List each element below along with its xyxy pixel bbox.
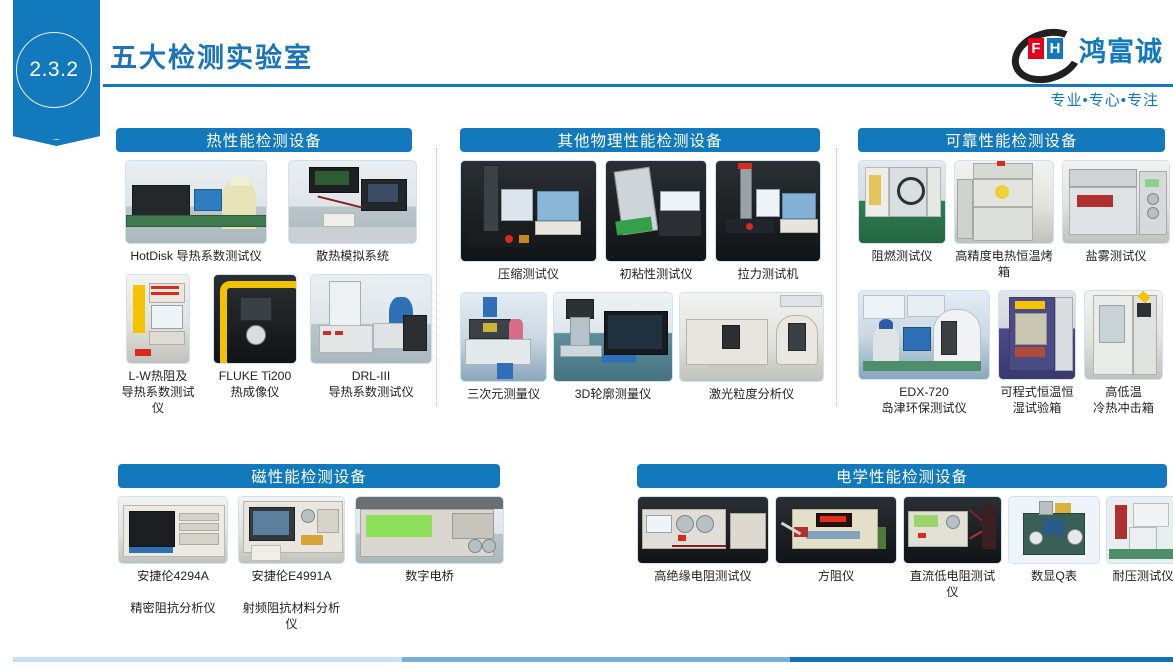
3d-profile-measuring-instrument-photo (553, 292, 673, 382)
equipment-item[interactable]: 安捷伦E4991A 射频阻抗材料分析仪 (238, 496, 345, 632)
heat-dissipation-simulation-system-photo (288, 160, 417, 244)
equipment-label: 三次元测量仪 (461, 386, 546, 402)
equipment-item[interactable]: 散热模拟系统 (288, 160, 417, 264)
panel-divider-1 (436, 148, 437, 406)
flame-retardant-tester-photo (858, 160, 946, 244)
agilent-e4991a-rf-impedance-analyzer-photo (238, 496, 345, 564)
equipment-label: 耐压测试仪 (1107, 568, 1173, 584)
equipment-label: 激光粒度分析仪 (680, 386, 823, 402)
edx-720-shimadzu-rohs-tester-photo (858, 290, 990, 380)
withstand-voltage-tester-photo (1106, 496, 1173, 564)
equipment-label: 高精度电热恒温烤箱 (955, 248, 1053, 280)
equipment-item[interactable]: 数字电桥 (355, 496, 504, 632)
equipment-label: DRL-III 导热系数测试仪 (311, 368, 431, 400)
equipment-item[interactable]: 3D轮廓测量仪 (553, 292, 673, 402)
equipment-item[interactable]: L-W热阻及 导热系数测试仪 (116, 274, 200, 416)
equipment-item[interactable]: 拉力测试机 (715, 160, 821, 282)
equipment-item[interactable]: 激光粒度分析仪 (679, 292, 824, 402)
hotdisk-thermal-conductivity-tester-photo (125, 160, 267, 244)
title-underline (103, 84, 1173, 87)
equipment-item[interactable]: 高精度电热恒温烤箱 (954, 160, 1054, 280)
panel-electrical-header: 电学性能检测设备 (637, 464, 1167, 488)
fluke-ti200-thermal-imager-photo (213, 274, 297, 364)
equipment-label: 安捷伦E4991A 射频阻抗材料分析仪 (239, 568, 344, 632)
logo-tagline: 专业•专心•专注 (1050, 89, 1159, 110)
equipment-label: 阻燃测试仪 (859, 248, 945, 264)
panel-other-physical-header: 其他物理性能检测设备 (460, 128, 820, 152)
agilent-4294a-impedance-analyzer-photo (118, 496, 228, 564)
equipment-item[interactable]: FLUKE Ti200 热成像仪 (210, 274, 300, 416)
footer-accent-bar (13, 657, 1173, 662)
high-precision-constant-temp-oven-photo (954, 160, 1054, 244)
dc-low-resistance-tester-photo (903, 496, 1002, 564)
equipment-label: 压缩测试仪 (461, 266, 596, 282)
equipment-label: 安捷伦4294A 精密阻抗分析仪 (119, 568, 227, 616)
equipment-label: 拉力测试机 (716, 266, 820, 282)
compression-tester-photo (460, 160, 597, 262)
panel-thermal: 热性能检测设备 HotDisk 导热系数测试仪 (116, 128, 412, 416)
equipment-item[interactable]: 可程式恒温恒 湿试验箱 (998, 290, 1076, 416)
equipment-item[interactable]: HotDisk 导热系数测试仪 (116, 160, 276, 264)
equipment-item[interactable]: 盐雾测试仪 (1062, 160, 1170, 280)
equipment-item[interactable]: 数显Q表 (1008, 496, 1100, 600)
lw-thermal-resistance-tester-photo (126, 274, 190, 364)
logo-letter-h: H (1047, 38, 1063, 59)
panel-other-physical: 其他物理性能检测设备 压缩测试仪 初粘性测试仪 (460, 128, 820, 402)
digital-lcr-bridge-photo (355, 496, 504, 564)
initial-tack-tester-photo (605, 160, 707, 262)
equipment-item[interactable]: 方阻仪 (775, 496, 897, 600)
section-accent-notch (13, 124, 100, 146)
equipment-label: FLUKE Ti200 热成像仪 (210, 368, 300, 400)
equipment-item[interactable]: 三次元测量仪 (460, 292, 547, 402)
panel-divider-2 (836, 148, 837, 406)
equipment-label: 散热模拟系统 (289, 248, 416, 264)
equipment-item[interactable]: 压缩测试仪 (460, 160, 597, 282)
company-logo: F H 鸿富诚 (1011, 28, 1163, 70)
equipment-label: 高绝缘电阻测试仪 (638, 568, 768, 584)
equipment-item[interactable]: 耐压测试仪 (1106, 496, 1173, 600)
equipment-label: 可程式恒温恒 湿试验箱 (999, 384, 1075, 416)
panel-magnetic: 磁性能检测设备 安捷伦4294A 精密阻抗分析仪 (118, 464, 500, 632)
panel-thermal-header: 热性能检测设备 (116, 128, 412, 152)
equipment-label: EDX-720 岛津环保测试仪 (859, 384, 989, 416)
equipment-label: 数显Q表 (1009, 568, 1099, 584)
equipment-item[interactable]: 阻燃测试仪 (858, 160, 946, 280)
high-insulation-resistance-tester-photo (637, 496, 769, 564)
salt-spray-tester-photo (1062, 160, 1170, 244)
equipment-label: 直流低电阻测试仪 (904, 568, 1001, 600)
cmm-3d-measuring-instrument-photo (460, 292, 547, 382)
panel-reliability-header: 可靠性能检测设备 (858, 128, 1165, 152)
equipment-item[interactable]: DRL-III 导热系数测试仪 (310, 274, 432, 416)
equipment-item[interactable]: 初粘性测试仪 (605, 160, 707, 282)
equipment-label: 方阻仪 (776, 568, 896, 584)
digital-q-meter-photo (1008, 496, 1100, 564)
equipment-label: L-W热阻及 导热系数测试仪 (116, 368, 200, 416)
equipment-item[interactable]: 安捷伦4294A 精密阻抗分析仪 (118, 496, 228, 632)
footer-segment-light (13, 657, 402, 662)
laser-particle-size-analyzer-photo (679, 292, 824, 382)
equipment-label: 初粘性测试仪 (606, 266, 706, 282)
fh-logo-icon: F H (1011, 28, 1073, 70)
page-title: 五大检测实验室 (110, 36, 313, 75)
equipment-label: HotDisk 导热系数测试仪 (116, 248, 276, 264)
tensile-testing-machine-photo (715, 160, 821, 262)
section-number: 2.3.2 (29, 58, 78, 82)
panel-reliability: 可靠性能检测设备 阻燃测试仪 高精度电热恒温烤 (858, 128, 1165, 416)
panel-magnetic-header: 磁性能检测设备 (118, 464, 500, 488)
equipment-item[interactable]: EDX-720 岛津环保测试仪 (858, 290, 990, 416)
footer-segment-dark (790, 657, 1173, 662)
sheet-resistance-meter-photo (775, 496, 897, 564)
panel-electrical: 电学性能检测设备 高绝缘电阻测试仪 (637, 464, 1167, 600)
programmable-temp-humidity-chamber-photo (998, 290, 1076, 380)
section-number-circle: 2.3.2 (16, 32, 92, 108)
logo-company-name: 鸿富诚 (1079, 30, 1163, 69)
equipment-label: 盐雾测试仪 (1063, 248, 1169, 264)
equipment-item[interactable]: 高绝缘电阻测试仪 (637, 496, 769, 600)
drl-iii-thermal-conductivity-tester-photo (310, 274, 432, 364)
thermal-shock-chamber-photo (1084, 290, 1163, 380)
equipment-item[interactable]: 高低温 冷热冲击箱 (1084, 290, 1163, 416)
equipment-label: 高低温 冷热冲击箱 (1085, 384, 1162, 416)
equipment-label: 3D轮廓测量仪 (554, 386, 672, 402)
logo-letter-f: F (1028, 38, 1044, 59)
footer-segment-mid (402, 657, 791, 662)
equipment-label: 数字电桥 (356, 568, 503, 584)
equipment-item[interactable]: 直流低电阻测试仪 (903, 496, 1002, 600)
